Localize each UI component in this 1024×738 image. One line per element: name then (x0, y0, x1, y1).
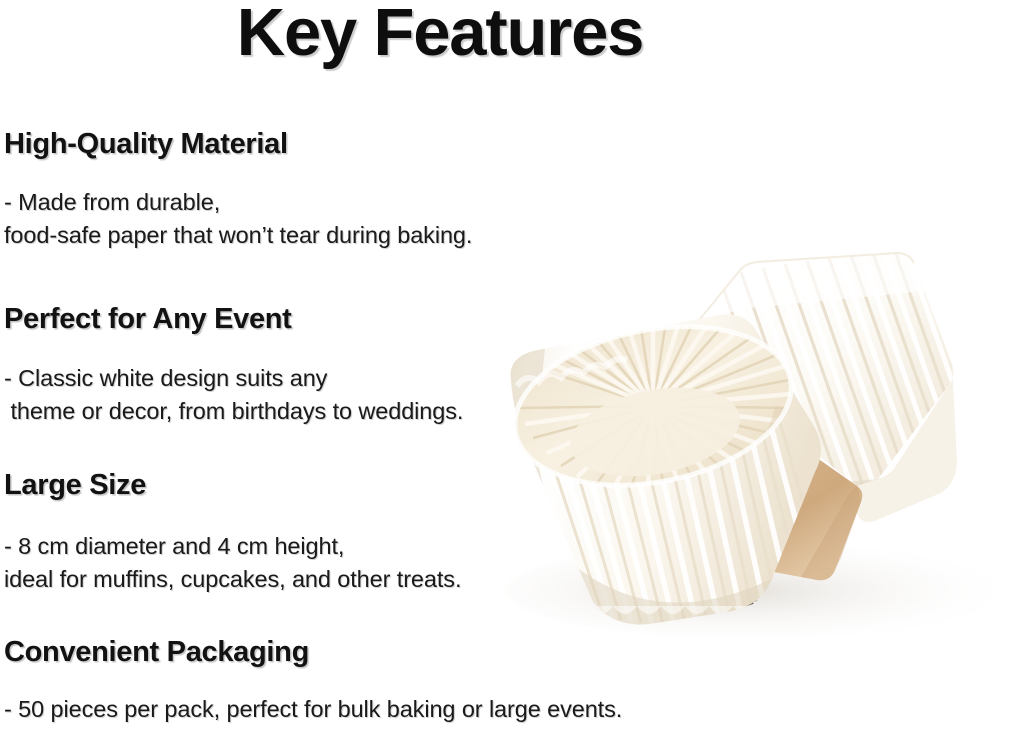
feature-description: - Made from durable, food-safe paper tha… (4, 186, 472, 253)
feature-description: - 50 pieces per pack, perfect for bulk b… (4, 693, 622, 726)
feature-heading: Perfect for Any Event (4, 305, 463, 334)
feature-heading: Large Size (4, 471, 461, 500)
product-image-cupcake-liners (505, 236, 1024, 636)
feature-heading: High-Quality Material (4, 130, 472, 159)
feature-heading: Convenient Packaging (4, 638, 622, 667)
feature-block-high-quality-material: High-Quality Material - Made from durabl… (4, 130, 472, 253)
feature-description: - 8 cm diameter and 4 cm height, ideal f… (4, 530, 461, 597)
feature-description: - Classic white design suits any theme o… (4, 362, 463, 429)
feature-block-large-size: Large Size - 8 cm diameter and 4 cm heig… (4, 471, 461, 597)
product-feature-infographic: Key Features High-Quality Material - Mad… (0, 0, 1024, 738)
cupcake-liners-illustration (505, 236, 1024, 636)
feature-block-convenient-packaging: Convenient Packaging - 50 pieces per pac… (4, 638, 622, 726)
page-title: Key Features (0, 0, 880, 71)
feature-block-perfect-for-any-event: Perfect for Any Event - Classic white de… (4, 305, 463, 429)
